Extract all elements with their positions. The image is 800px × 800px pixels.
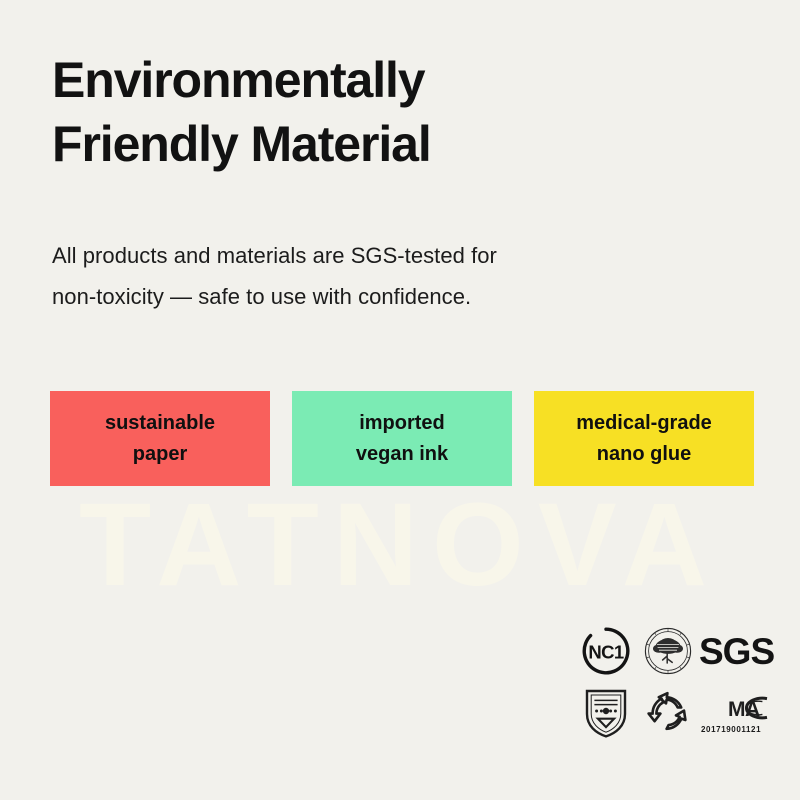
cma-mark: MA 201719001121 bbox=[699, 684, 779, 742]
page-title-line-1: Environmentally bbox=[52, 48, 672, 112]
material-tag-line-1: medical-grade bbox=[576, 408, 712, 439]
certification-row-top: NC1 bbox=[575, 620, 780, 682]
page-title-line-2: Friendly Material bbox=[52, 112, 672, 176]
material-tag-line-1: imported bbox=[359, 408, 445, 439]
description-line-1: All products and materials are SGS-teste… bbox=[52, 236, 652, 277]
cma-mark-icon: MA bbox=[699, 693, 773, 723]
certification-badges: NC1 bbox=[575, 620, 780, 744]
tree-seal-icon bbox=[637, 622, 699, 680]
shield-badge-icon bbox=[575, 684, 637, 742]
description-line-2: non-toxicity — safe to use with confiden… bbox=[52, 277, 652, 318]
material-tag-list: sustainable paper imported vegan ink med… bbox=[50, 391, 754, 489]
page-title: Environmentally Friendly Material bbox=[52, 48, 672, 176]
material-tag-line-2: vegan ink bbox=[356, 439, 448, 470]
material-tag-nano-glue: medical-grade nano glue bbox=[534, 391, 754, 486]
nc1-badge-icon: NC1 bbox=[575, 622, 637, 680]
recycle-symbol-icon bbox=[637, 684, 699, 742]
brand-watermark: TATNOVA bbox=[0, 486, 800, 604]
cma-certificate-number: 201719001121 bbox=[701, 725, 761, 734]
material-tag-vegan-ink: imported vegan ink bbox=[292, 391, 512, 486]
material-tag-sustainable-paper: sustainable paper bbox=[50, 391, 270, 486]
svg-text:NC1: NC1 bbox=[588, 641, 624, 662]
description-text: All products and materials are SGS-teste… bbox=[52, 236, 652, 317]
material-tag-line-2: nano glue bbox=[597, 439, 691, 470]
sgs-logo-text: SGS bbox=[699, 633, 774, 670]
certification-row-bottom: MA 201719001121 bbox=[575, 682, 780, 744]
material-tag-line-2: paper bbox=[133, 439, 187, 470]
material-tag-line-1: sustainable bbox=[105, 408, 215, 439]
poster-canvas: TATNOVA Environmentally Friendly Materia… bbox=[0, 0, 800, 800]
svg-text:MA: MA bbox=[728, 698, 760, 721]
sgs-logo: SGS bbox=[699, 622, 779, 680]
